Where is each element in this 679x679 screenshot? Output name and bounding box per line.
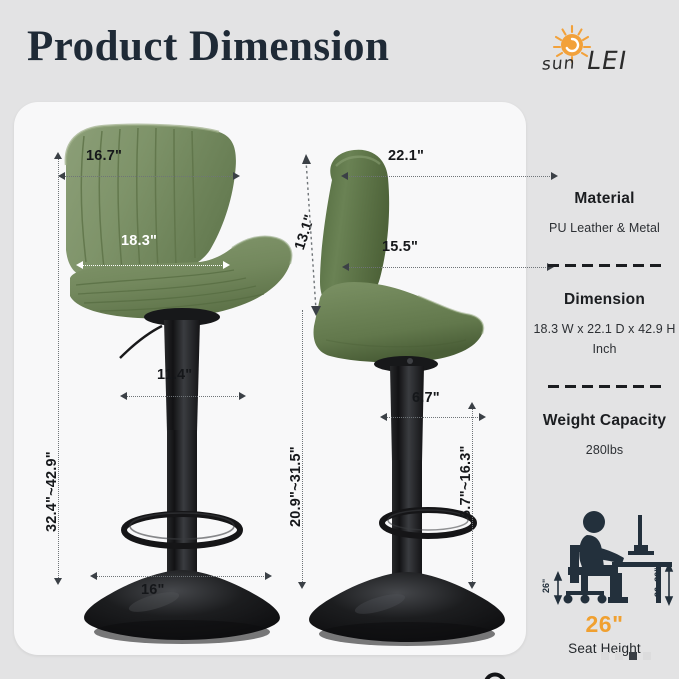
arrow-right-icon [479, 413, 486, 421]
pager-dot[interactable] [615, 652, 623, 660]
arrow-down-icon [298, 582, 306, 589]
spec-heading: Weight Capacity [530, 412, 679, 430]
diagram-card: 16.7" 18.3" 32.4"~42.9" 11.4" 16" 22.1" … [14, 102, 526, 655]
dim-side-seat-depth-line [348, 267, 550, 268]
pager-dot-active[interactable] [629, 652, 637, 660]
spec-heading: Dimension [530, 291, 679, 309]
dim-side-footrest-height-line [472, 408, 473, 586]
dim-front-width-label: 16.7" [86, 148, 122, 164]
dim-front-base-label: 16" [141, 582, 165, 598]
weight-capacity-badge: 280 LBS [462, 672, 528, 679]
brand-lei-word: LEI [584, 46, 629, 75]
dim-front-footrest-label: 11.4" [157, 367, 192, 383]
header: Product Dimension sun [0, 0, 679, 95]
dim-front-seat-depth-line [82, 265, 226, 266]
spec-divider [530, 385, 679, 388]
dim-side-height-line [302, 310, 303, 586]
arrow-left-icon [58, 172, 65, 180]
arrow-right-icon [551, 172, 558, 180]
arrow-left-icon [341, 172, 348, 180]
spec-value: 280lbs [530, 441, 679, 460]
spec-divider [530, 264, 679, 267]
product-dimension-infographic: Product Dimension sun [0, 0, 679, 679]
arrow-left-icon [76, 261, 83, 269]
arrow-left-icon [380, 413, 387, 421]
dim-front-footrest-line [126, 396, 242, 397]
dim-front-seat-depth-label: 18.3" [121, 233, 157, 249]
brand-sun-word: sun [541, 53, 576, 74]
arrow-right-icon [265, 572, 272, 580]
pager-dots[interactable] [601, 652, 651, 660]
arrow-down-icon [468, 582, 476, 589]
spec-heading: Material [530, 190, 679, 208]
pager-dot[interactable] [643, 652, 651, 660]
spec-section-weight-capacity: Weight Capacity 280lbs [530, 412, 679, 460]
arrow-left-icon [120, 392, 127, 400]
arrow-left-icon [90, 572, 97, 580]
arrow-right-icon [239, 392, 246, 400]
brand-logo: sun LEI [540, 24, 660, 78]
dim-front-height-line [58, 158, 59, 582]
arrow-right-icon [233, 172, 240, 180]
page-title: Product Dimension [27, 22, 389, 71]
dim-front-width-line [64, 176, 236, 177]
arrow-up-icon [468, 402, 476, 409]
arrow-down-icon [54, 578, 62, 585]
seat-height-desk-label: 36~39" [653, 567, 663, 597]
spec-value: PU Leather & Metal [530, 219, 679, 238]
arrow-left-icon [342, 263, 349, 271]
dim-side-seat-depth-label: 15.5" [382, 239, 418, 255]
spec-value: 18.3 W x 22.1 D x 42.9 H [530, 320, 679, 339]
dim-side-footring-line [386, 417, 482, 418]
person-at-desk-icon: 26" 36~39" [530, 505, 679, 613]
dim-front-base-line [96, 576, 268, 577]
spec-section-material: Material PU Leather & Metal [530, 190, 679, 238]
dim-side-depth-label: 22.1" [388, 148, 424, 164]
arrow-right-icon [223, 261, 230, 269]
spec-value-unit: Inch [530, 340, 679, 359]
spec-section-dimension: Dimension 18.3 W x 22.1 D x 42.9 H Inch [530, 291, 679, 359]
pager-dot[interactable] [601, 652, 609, 660]
arrow-up-icon [54, 152, 62, 159]
person-at-desk-figure: 26" 36~39" [530, 505, 679, 613]
spec-sidebar: Material PU Leather & Metal Dimension 18… [530, 190, 679, 461]
dim-side-depth-line [347, 176, 554, 177]
weight-icon: 280 LBS [462, 672, 528, 679]
seat-height-chair-label: 26" [541, 579, 551, 593]
dim-side-footring-label: 6.7" [412, 390, 440, 406]
seat-height-block: 26" 36~39" 26" Seat Height [530, 505, 679, 656]
seat-height-value: 26" [530, 611, 679, 638]
